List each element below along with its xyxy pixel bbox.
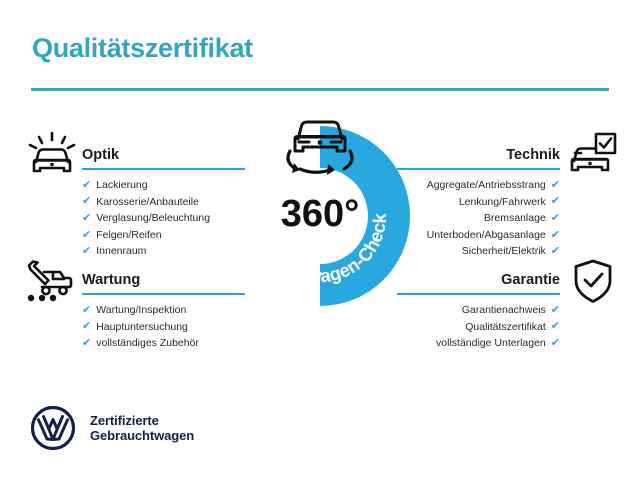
- check-icon: ✔: [82, 246, 91, 257]
- section-optik: Optik ✔ Lackierung ✔ Karosserie/Anbautei…: [82, 140, 245, 260]
- list-item: ✔ Lackierung: [82, 177, 245, 194]
- section-technik: Technik Aggregate/Antriebsstrang ✔ Lenku…: [397, 140, 560, 260]
- list-item-label: Karosserie/Anbauteile: [96, 194, 199, 211]
- check-icon: ✔: [551, 230, 560, 241]
- section-divider: [82, 168, 245, 170]
- list-item-label: Wartung/Inspektion: [96, 302, 186, 319]
- check-icon: ✔: [82, 305, 91, 316]
- badge-center-label: 360°: [281, 193, 360, 235]
- list-item: Unterboden/Abgasanlage ✔: [397, 227, 560, 244]
- check-icon: ✔: [551, 321, 560, 332]
- list-item-label: Qualitätszertifikat: [465, 319, 546, 336]
- footer-brand: Zertifizierte Gebrauchtwagen: [30, 405, 194, 451]
- check-icon: ✔: [82, 213, 91, 224]
- section-divider: [397, 293, 560, 295]
- car-wrench-icon: [22, 256, 78, 313]
- section-divider: [82, 293, 245, 295]
- check-icon: ✔: [82, 230, 91, 241]
- list-item-label: Aggregate/Antriebsstrang: [427, 177, 546, 194]
- list-item: Qualitätszertifikat ✔: [397, 319, 560, 336]
- list-item-label: Lackierung: [96, 177, 147, 194]
- checklist-optik: ✔ Lackierung ✔ Karosserie/Anbauteile ✔ V…: [82, 177, 245, 260]
- list-item: ✔ Hauptuntersuchung: [82, 319, 245, 336]
- check-icon: ✔: [551, 246, 560, 257]
- section-divider: [397, 168, 560, 170]
- list-item: Bremsanlage ✔: [397, 210, 560, 227]
- check-icon: ✔: [551, 305, 560, 316]
- list-item-label: Garantienachweis: [462, 302, 546, 319]
- shield-check-icon: [570, 258, 616, 311]
- list-item: ✔ Wartung/Inspektion: [82, 302, 245, 319]
- section-garantie: Garantie Garantienachweis ✔ Qualitätszer…: [397, 265, 560, 352]
- checklist-technik: Aggregate/Antriebsstrang ✔ Lenkung/Fahrw…: [397, 177, 560, 260]
- gebrauchtwagen-check-badge: Gebrauchtwagen-Check 360°: [222, 118, 418, 314]
- section-title: Optik: [82, 147, 119, 163]
- list-item-label: Unterboden/Abgasanlage: [427, 227, 546, 244]
- title-divider: [31, 88, 609, 91]
- vw-logo-icon: [30, 405, 76, 451]
- car-rotate-icon: [274, 112, 366, 186]
- check-icon: ✔: [82, 338, 91, 349]
- list-item: ✔ Karosserie/Anbauteile: [82, 194, 245, 211]
- list-item: ✔ vollständiges Zubehör: [82, 335, 245, 352]
- list-item: Lenkung/Fahrwerk ✔: [397, 194, 560, 211]
- page-title: Qualitätszertifikat: [32, 33, 253, 64]
- check-icon: ✔: [551, 213, 560, 224]
- list-item: ✔ Verglasung/Beleuchtung: [82, 210, 245, 227]
- check-icon: ✔: [551, 196, 560, 207]
- section-title: Technik: [506, 147, 560, 163]
- check-icon: ✔: [551, 338, 560, 349]
- list-item-label: Verglasung/Beleuchtung: [96, 210, 210, 227]
- check-icon: ✔: [551, 180, 560, 191]
- list-item-label: Bremsanlage: [484, 210, 546, 227]
- check-icon: ✔: [82, 321, 91, 332]
- list-item: Garantienachweis ✔: [397, 302, 560, 319]
- section-title: Garantie: [501, 272, 560, 288]
- list-item-label: Felgen/Reifen: [96, 227, 161, 244]
- check-icon: ✔: [82, 180, 91, 191]
- footer-brand-text: Zertifizierte Gebrauchtwagen: [90, 413, 194, 444]
- list-item: ✔ Felgen/Reifen: [82, 227, 245, 244]
- section-header-wartung: Wartung: [82, 265, 245, 295]
- check-icon: ✔: [82, 196, 91, 207]
- footer-brand-line2: Gebrauchtwagen: [90, 428, 194, 444]
- checklist-garantie: Garantienachweis ✔ Qualitätszertifikat ✔…: [397, 302, 560, 352]
- footer-brand-line1: Zertifizierte: [90, 413, 194, 429]
- section-title: Wartung: [82, 272, 140, 288]
- checklist-wartung: ✔ Wartung/Inspektion ✔ Hauptuntersuchung…: [82, 302, 245, 352]
- list-item-label: vollständige Unterlagen: [436, 335, 546, 352]
- car-shine-icon: [27, 131, 79, 184]
- list-item-label: Hauptuntersuchung: [96, 319, 188, 336]
- list-item-label: vollständiges Zubehör: [96, 335, 199, 352]
- list-item-label: Innenraum: [96, 243, 146, 260]
- list-item-label: Sicherheit/Elektrik: [462, 243, 546, 260]
- certificate-page: Qualitätszertifikat Optik: [0, 0, 640, 480]
- section-wartung: Wartung ✔ Wartung/Inspektion ✔ Hauptunte…: [82, 265, 245, 352]
- car-checkbox-icon: [565, 131, 617, 184]
- section-header-optik: Optik: [82, 140, 245, 170]
- list-item: Aggregate/Antriebsstrang ✔: [397, 177, 560, 194]
- list-item: ✔ Innenraum: [82, 243, 245, 260]
- section-header-technik: Technik: [397, 140, 560, 170]
- list-item: vollständige Unterlagen ✔: [397, 335, 560, 352]
- list-item-label: Lenkung/Fahrwerk: [459, 194, 546, 211]
- list-item: Sicherheit/Elektrik ✔: [397, 243, 560, 260]
- section-header-garantie: Garantie: [397, 265, 560, 295]
